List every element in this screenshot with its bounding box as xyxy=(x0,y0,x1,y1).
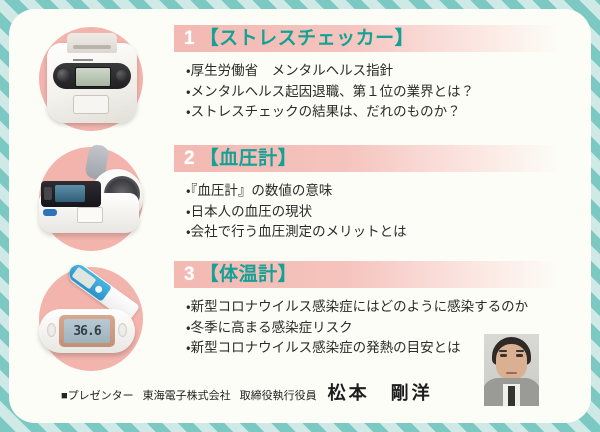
presenter-company: 東海電子株式会社 xyxy=(143,387,231,403)
presenter-label: プレゼンター xyxy=(68,387,134,403)
presenter-name: 松本 剛洋 xyxy=(328,379,433,405)
section-header-3: 3 【体温計】 xyxy=(174,261,578,288)
stress-checker-icon xyxy=(43,29,141,127)
bullet-item: ・厚生労働省 メンタルヘルス指針 xyxy=(186,61,578,82)
bullet-item: ・ストレスチェックの結果は、だれのものか？ xyxy=(186,102,578,123)
section-bullets-2: ・『血圧計』の数値の意味 ・日本人の血圧の現状 ・会社で行う血圧測定のメリットと… xyxy=(174,172,578,243)
bullet-item: ・日本人の血圧の現状 xyxy=(186,202,578,223)
section-number-1: 1 xyxy=(184,29,195,48)
section-header-2: 2 【血圧計】 xyxy=(174,145,578,172)
section-title-1: 【ストレスチェッカー】 xyxy=(200,29,415,48)
section-bullets-1: ・厚生労働省 メンタルヘルス指針 ・メンタルヘルス起因退職、第１位の業界とは？ … xyxy=(174,52,578,123)
slide-root: 36.6 1 【ストレスチェッカー】 ・厚生労働省 メンタルヘルス指針 ・メンタ… xyxy=(0,0,600,432)
bullet-item: ・メンタルヘルス起因退職、第１位の業界とは？ xyxy=(186,82,578,103)
thermometer-display-value: 36.6 xyxy=(73,324,100,339)
bullet-item: ・新型コロナウイルス感染症にはどのように感染するのか xyxy=(186,297,578,318)
section-number-3: 3 xyxy=(184,265,195,284)
product-photo-thermometer: 36.6 xyxy=(25,257,157,375)
presenter-line: ■ プレゼンター 東海電子株式会社 取締役執行役員 松本 剛洋 xyxy=(61,379,433,405)
section-number-2: 2 xyxy=(184,149,195,168)
bullet-item: ・『血圧計』の数値の意味 xyxy=(186,181,578,202)
thermometer-icon: 36.6 xyxy=(31,261,151,373)
section-header-1: 1 【ストレスチェッカー】 xyxy=(174,25,578,52)
product-photo-blood-pressure-monitor xyxy=(25,137,157,255)
agenda-section-1: 1 【ストレスチェッカー】 ・厚生労働省 メンタルヘルス指針 ・メンタルヘルス起… xyxy=(174,25,578,123)
product-photo-stress-checker xyxy=(25,17,157,135)
presenter-job-title: 取締役執行役員 xyxy=(240,387,317,403)
bullet-item: ・会社で行う血圧測定のメリットとは xyxy=(186,222,578,243)
presenter-bullet-mark: ■ xyxy=(61,390,68,402)
presenter-photo xyxy=(484,334,539,406)
section-title-2: 【血圧計】 xyxy=(200,149,298,168)
blood-pressure-monitor-icon xyxy=(37,147,147,247)
product-photo-column: 36.6 xyxy=(9,9,174,423)
slide-card: 36.6 1 【ストレスチェッカー】 ・厚生労働省 メンタルヘルス指針 ・メンタ… xyxy=(9,9,591,423)
agenda-section-2: 2 【血圧計】 ・『血圧計』の数値の意味 ・日本人の血圧の現状 ・会社で行う血圧… xyxy=(174,145,578,243)
section-title-3: 【体温計】 xyxy=(200,265,298,284)
